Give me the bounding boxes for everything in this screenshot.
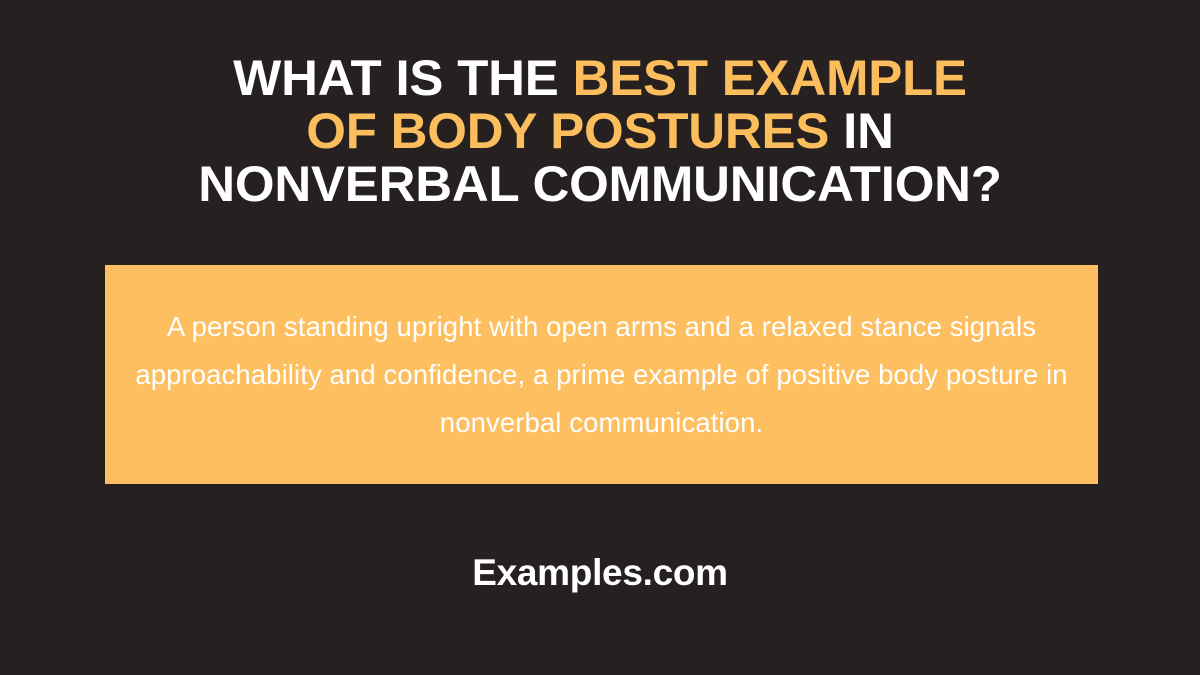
title-line-2-highlight: OF BODY POSTURES bbox=[306, 103, 829, 159]
title-line-2-plain: IN bbox=[829, 103, 894, 159]
brand-footer: Examples.com bbox=[0, 551, 1200, 595]
title-line-3: NONVERBAL COMMUNICATION? bbox=[0, 158, 1200, 211]
title-line-1-plain: WHAT IS THE bbox=[233, 50, 572, 106]
answer-callout-box: A person standing upright with open arms… bbox=[105, 265, 1098, 484]
title-line-3-plain: NONVERBAL COMMUNICATION? bbox=[198, 156, 1002, 212]
title-line-1-highlight: BEST EXAMPLE bbox=[573, 50, 967, 106]
answer-callout-text: A person standing upright with open arms… bbox=[132, 303, 1072, 447]
title-line-2: OF BODY POSTURES IN bbox=[0, 105, 1200, 158]
poster-canvas: WHAT IS THE BEST EXAMPLE OF BODY POSTURE… bbox=[0, 0, 1200, 675]
title-line-1: WHAT IS THE BEST EXAMPLE bbox=[0, 52, 1200, 105]
page-title: WHAT IS THE BEST EXAMPLE OF BODY POSTURE… bbox=[0, 52, 1200, 211]
